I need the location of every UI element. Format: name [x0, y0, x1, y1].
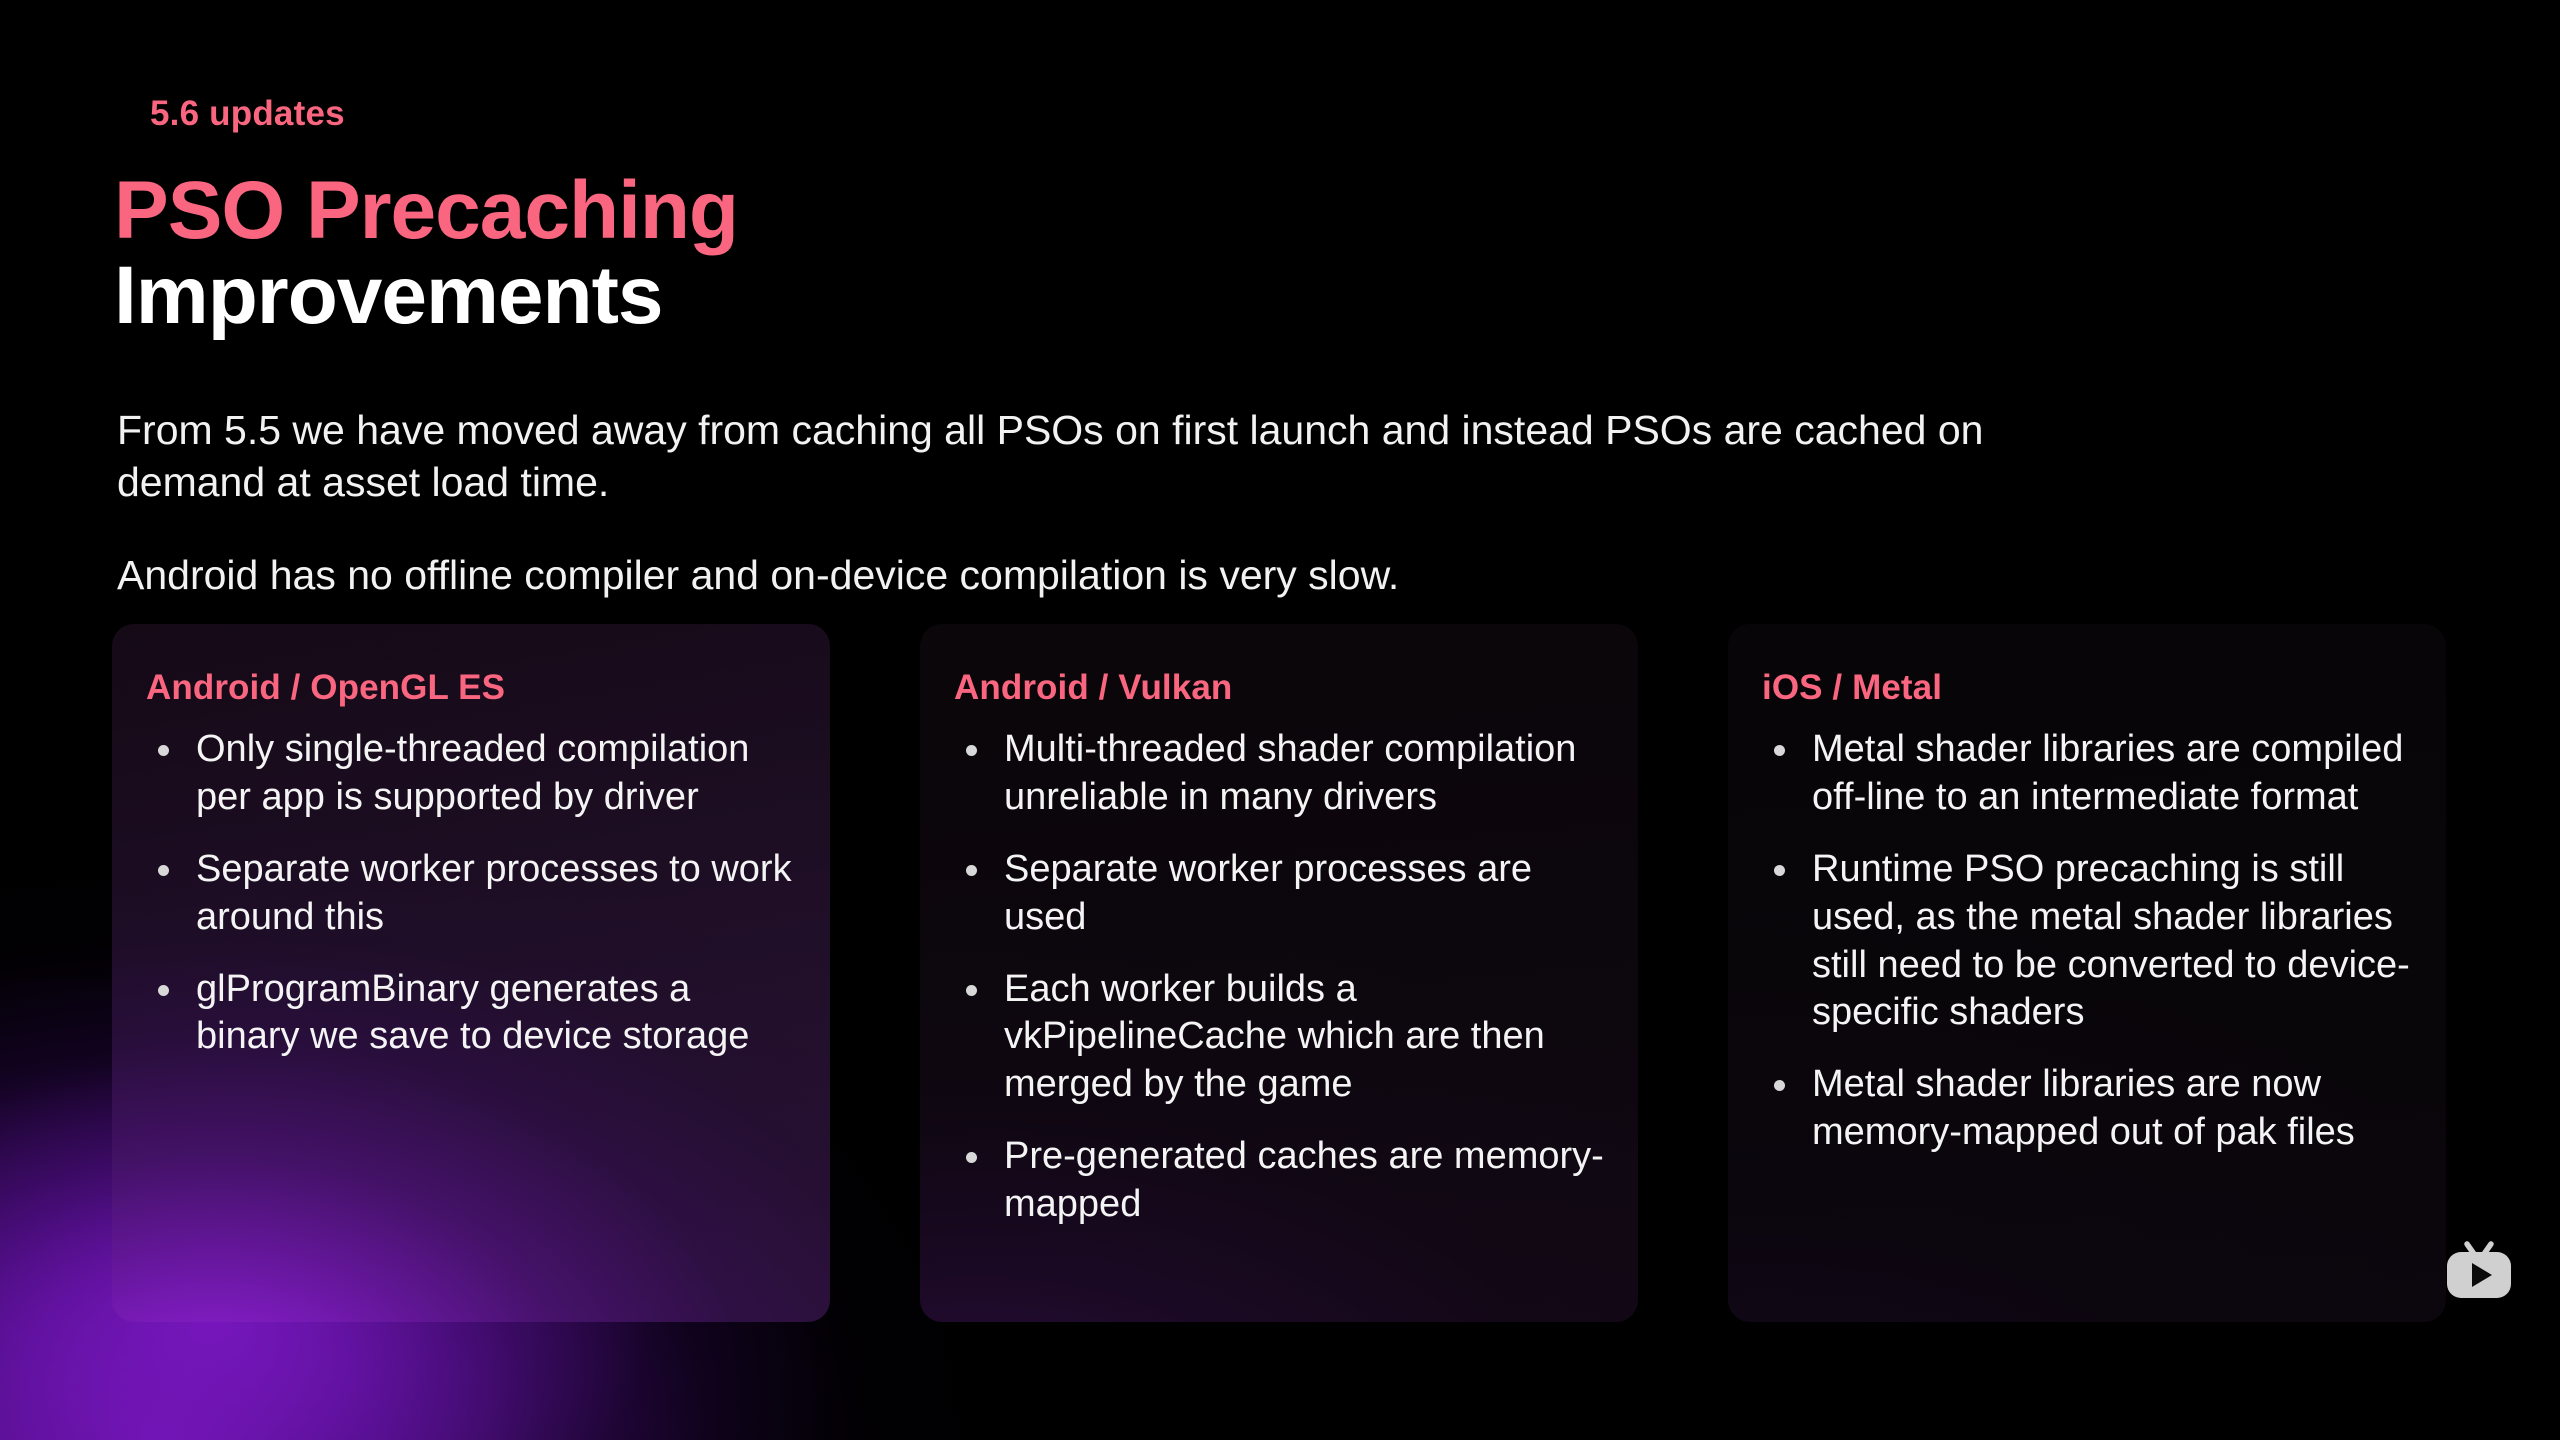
bullet-dot-icon	[966, 1152, 977, 1163]
platform-card-ios-metal: iOS / Metal Metal shader libraries are c…	[1728, 624, 2446, 1322]
list-item-text: Each worker builds a vkPipelineCache whi…	[1004, 968, 1545, 1106]
platform-card-android-opengl-es: Android / OpenGL ES Only single-threaded…	[112, 624, 830, 1322]
list-item: Multi-threaded shader compilation unreli…	[954, 726, 1604, 822]
bullet-dot-icon	[158, 985, 169, 996]
list-item: Only single-threaded compilation per app…	[146, 726, 796, 822]
body-paragraph-1: From 5.5 we have moved away from caching…	[117, 404, 1997, 509]
bullet-dot-icon	[966, 745, 977, 756]
slide-title: PSO Precaching Improvements	[114, 170, 738, 336]
bullet-dot-icon	[1774, 745, 1785, 756]
list-item: Pre-generated caches are memory-mapped	[954, 1133, 1604, 1229]
bullet-dot-icon	[1774, 865, 1785, 876]
list-item: glProgramBinary generates a binary we sa…	[146, 966, 796, 1062]
list-item-text: glProgramBinary generates a binary we sa…	[196, 968, 749, 1058]
list-item-text: Metal shader libraries are compiled off-…	[1812, 728, 2403, 818]
list-item: Separate worker processes to work around…	[146, 846, 796, 942]
slide-eyebrow-label: 5.6 updates	[150, 94, 345, 134]
platform-columns: Android / OpenGL ES Only single-threaded…	[112, 624, 2448, 1322]
platform-card-android-vulkan: Android / Vulkan Multi-threaded shader c…	[920, 624, 1638, 1322]
bullet-dot-icon	[1774, 1080, 1785, 1091]
platform-card-heading: Android / OpenGL ES	[146, 668, 796, 708]
list-item: Metal shader libraries are now memory-ma…	[1762, 1061, 2412, 1157]
platform-card-heading: Android / Vulkan	[954, 668, 1604, 708]
list-item-text: Metal shader libraries are now memory-ma…	[1812, 1063, 2355, 1153]
page-title-primary: PSO Precaching	[114, 170, 738, 251]
list-item-text: Pre-generated caches are memory-mapped	[1004, 1135, 1604, 1225]
list-item-text: Separate worker processes to work around…	[196, 848, 792, 938]
list-item: Separate worker processes are used	[954, 846, 1604, 942]
platform-bullet-list: Metal shader libraries are compiled off-…	[1762, 726, 2412, 1157]
bullet-dot-icon	[966, 865, 977, 876]
page-title-secondary: Improvements	[114, 255, 738, 336]
tv-play-icon	[2443, 1240, 2515, 1302]
list-item: Each worker builds a vkPipelineCache whi…	[954, 966, 1604, 1110]
platform-card-heading: iOS / Metal	[1762, 668, 2412, 708]
platform-bullet-list: Only single-threaded compilation per app…	[146, 726, 796, 1061]
list-item: Runtime PSO precaching is still used, as…	[1762, 846, 2412, 1038]
platform-bullet-list: Multi-threaded shader compilation unreli…	[954, 726, 1604, 1229]
presentation-slide: 5.6 updates PSO Precaching Improvements …	[0, 0, 2560, 1440]
list-item-text: Separate worker processes are used	[1004, 848, 1532, 938]
bullet-dot-icon	[158, 865, 169, 876]
slide-body-copy: From 5.5 we have moved away from caching…	[117, 404, 1997, 601]
list-item-text: Runtime PSO precaching is still used, as…	[1812, 848, 2410, 1034]
list-item-text: Multi-threaded shader compilation unreli…	[1004, 728, 1576, 818]
list-item-text: Only single-threaded compilation per app…	[196, 728, 749, 818]
bullet-dot-icon	[158, 745, 169, 756]
bullet-dot-icon	[966, 985, 977, 996]
list-item: Metal shader libraries are compiled off-…	[1762, 726, 2412, 822]
body-paragraph-2: Android has no offline compiler and on-d…	[117, 549, 1997, 601]
